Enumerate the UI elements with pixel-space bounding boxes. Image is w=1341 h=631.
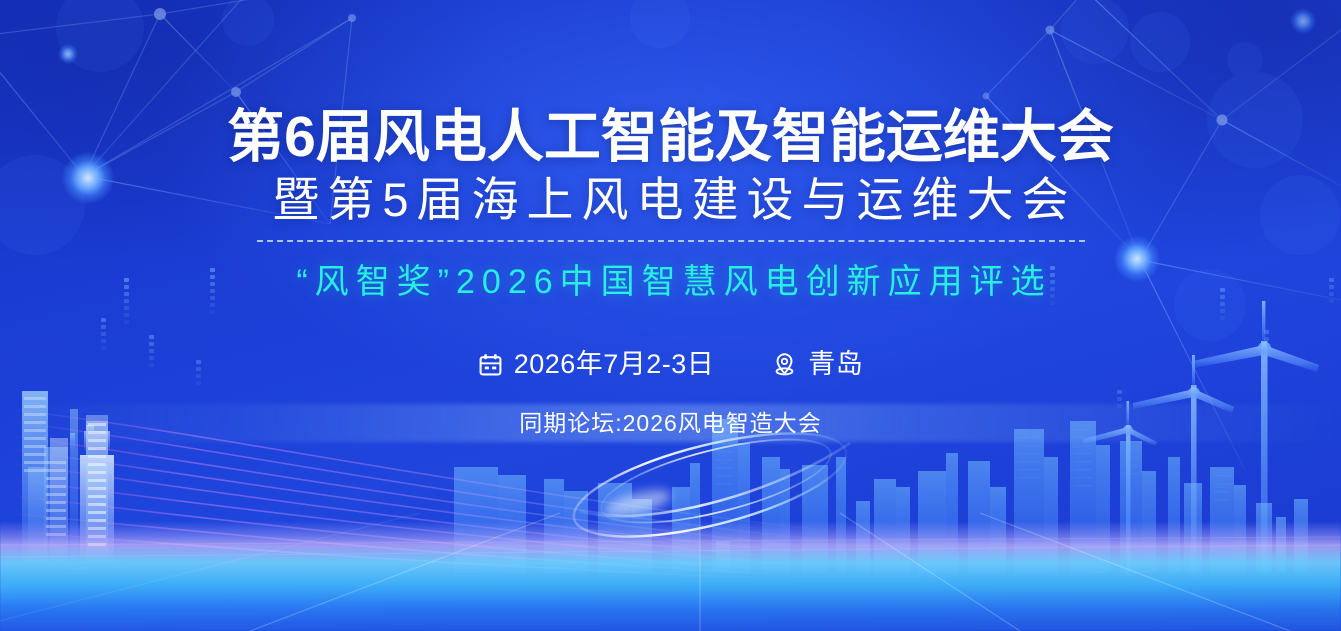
forum-label: 同期论坛:2026风电智造大会 (0, 409, 1341, 437)
banner-content: 第6届风电人工智能及智能运维大会 暨第5届海上风电建设与运维大会 “风智奖”20… (0, 0, 1341, 631)
event-meta: 2026年7月2-3日 青岛 (0, 348, 1341, 380)
award-subtitle: “风智奖”2026中国智慧风电创新应用评选 (0, 258, 1341, 306)
divider (257, 240, 1085, 242)
page-subtitle-main: 暨第5届海上风电建设与运维大会 (0, 172, 1341, 228)
event-location-label: 青岛 (808, 348, 863, 380)
event-location: 青岛 (772, 348, 863, 380)
conference-banner: 第6届风电人工智能及智能运维大会 暨第5届海上风电建设与运维大会 “风智奖”20… (0, 0, 1341, 631)
location-pin-icon (772, 352, 797, 377)
event-date-label: 2026年7月2-3日 (514, 348, 715, 380)
calendar-icon (478, 352, 503, 377)
event-date: 2026年7月2-3日 (478, 348, 715, 380)
page-title: 第6届风电人工智能及智能运维大会 (0, 104, 1341, 170)
